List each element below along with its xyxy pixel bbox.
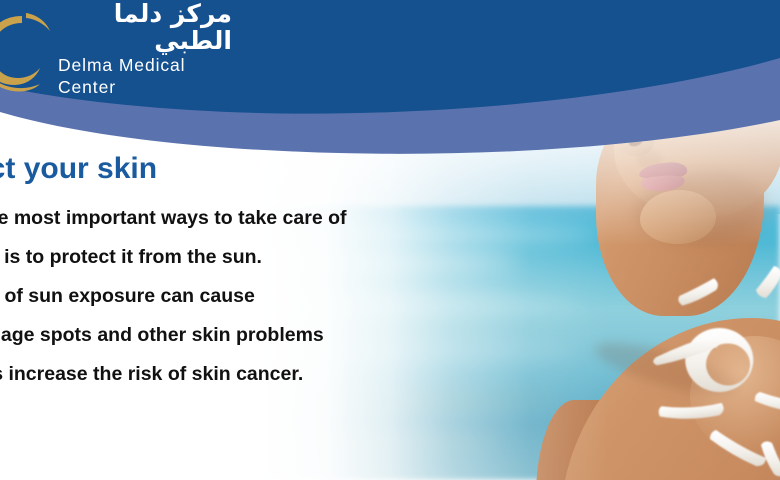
brand-name-arabic: مركز دلما الطبي xyxy=(58,1,232,54)
body-line: wrinkles, age spots and other skin probl… xyxy=(0,326,432,346)
health-awareness-banner: مركز دلما الطبي Delma Medical Center Pro… xyxy=(0,0,780,480)
headline: Protect your skin xyxy=(0,152,432,185)
logo-arc-accent xyxy=(26,13,50,31)
brand-wordmark: مركز دلما الطبي Delma Medical Center xyxy=(58,1,232,98)
crescent-q-logo-icon xyxy=(0,8,54,92)
body-line: One of the most important ways to take c… xyxy=(0,209,432,229)
message-block: Protect your skin One of the most import… xyxy=(0,152,432,385)
body-line: as well as increase the risk of skin can… xyxy=(0,365,432,385)
body-line: A lifetime of sun exposure can cause xyxy=(0,287,432,307)
body-line: your skin is to protect it from the sun. xyxy=(0,248,432,268)
logo-crescent-outer xyxy=(0,16,40,85)
brand-logo[interactable]: مركز دلما الطبي Delma Medical Center xyxy=(0,8,232,92)
brand-name-english: Delma Medical Center xyxy=(58,55,232,99)
